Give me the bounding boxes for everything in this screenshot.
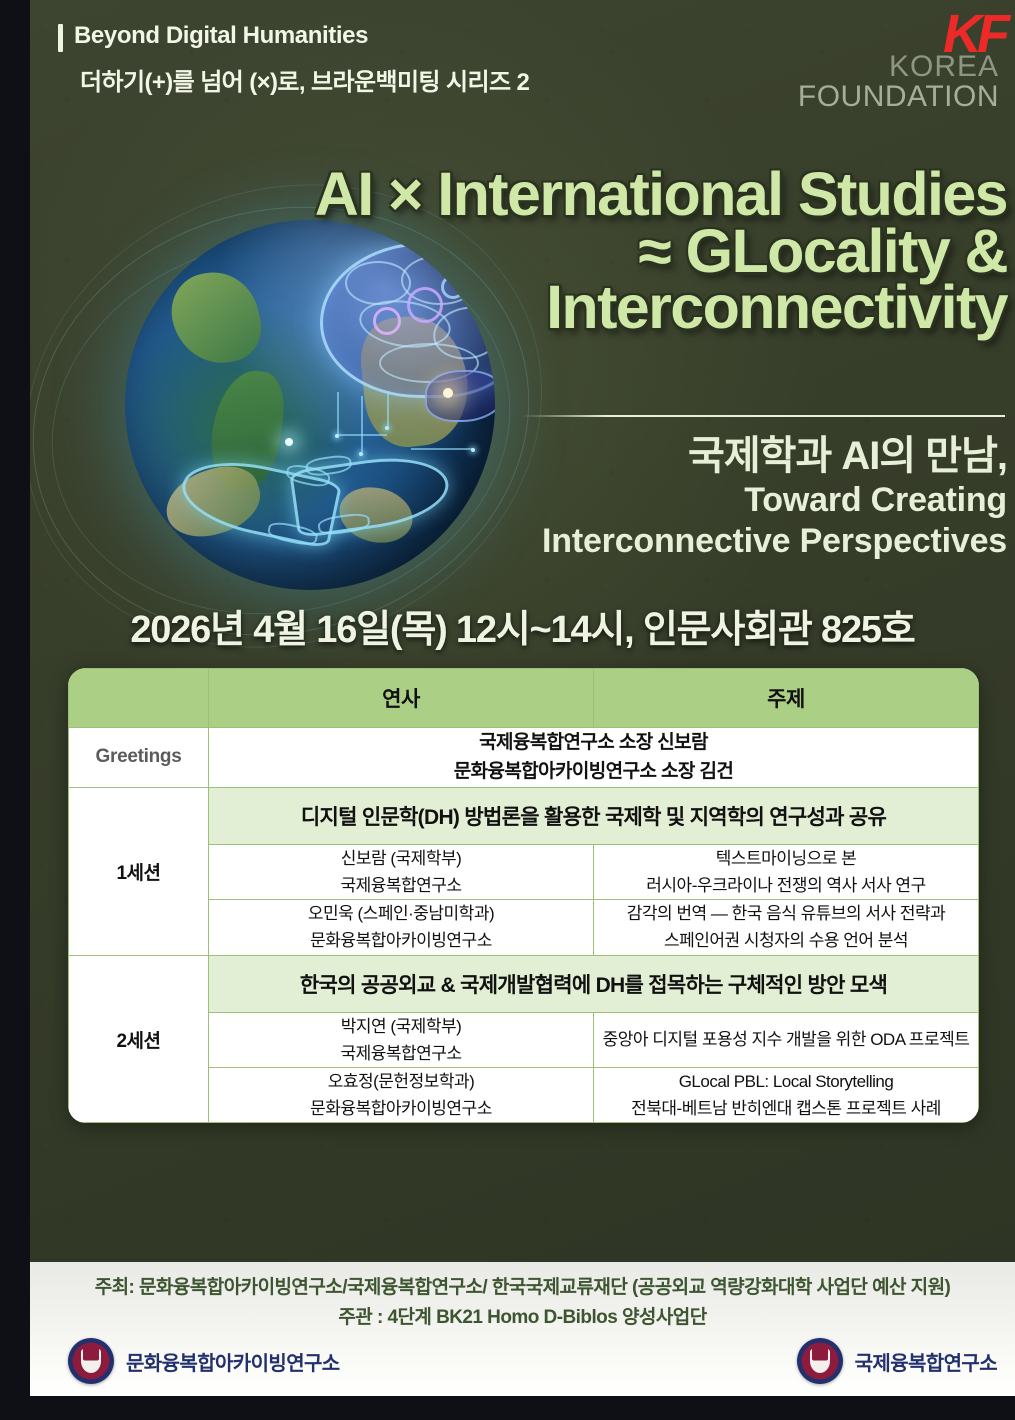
topic-line1: GLocal PBL: Local Storytelling [594,1068,978,1095]
greetings-content-cell: 국제융복합연구소 소장 신보람 문화융복합아카이빙연구소 소장 김건 [209,728,979,788]
page-title: AI × International Studies ≈ GLocality &… [62,166,1007,336]
title-line-3: Interconnectivity [62,279,1007,336]
poster-frame: Beyond Digital Humanities 더하기(+)를 넘어 (×)… [0,0,1015,1420]
col-header-blank [69,669,209,728]
session2-label: 2세션 [116,1031,160,1052]
table-header-row: 연사 주제 [69,669,979,728]
topic-cell: 중앙아 디지털 포용성 지수 개발을 위한 ODA 프로젝트 [594,1012,979,1067]
org-logo-left: 문화융복합아카이빙연구소 [68,1338,340,1384]
topic-line1: 중앙아 디지털 포용성 지수 개발을 위한 ODA 프로젝트 [594,1026,978,1053]
topic-line2: 전북대-베트남 반히엔대 캡스톤 프로젝트 사례 [594,1095,978,1122]
kf-logo-line1: KOREA [889,50,999,84]
session2-heading: 한국의 공공외교 & 국제개발협력에 DH를 접목하는 구체적인 방안 모색 [209,955,979,1012]
title-line-2: ≈ GLocality & [62,223,1007,280]
table-row-session1-heading: 1세션 디지털 인문학(DH) 방법론을 활용한 국제학 및 지역학의 연구성과… [69,787,979,844]
greetings-line2: 문화융복합아카이빙연구소 소장 김건 [209,757,978,786]
table-row-session2-heading: 2세션 한국의 공공외교 & 국제개발협력에 DH를 접목하는 구체적인 방안 … [69,955,979,1012]
footer-host-line: 주최: 문화융복합아카이빙연구소/국제융복합연구소/ 한국국제교류재단 (공공외… [30,1272,1015,1299]
cerebellum-shape [425,370,495,422]
col-header-topic: 주제 [594,669,979,728]
university-crest-icon [797,1338,843,1384]
topic-line1: 감각의 번역 — 한국 음식 유튜브의 서사 전략과 [594,900,978,927]
poster-canvas: Beyond Digital Humanities 더하기(+)를 넘어 (×)… [30,0,1015,1396]
university-crest-icon [68,1338,114,1384]
subtitle-block: 국제학과 AI의 만남, Toward Creating Interconnec… [307,432,1007,563]
speaker-cell: 오효정(문헌정보학과) 문화융복합아카이빙연구소 [209,1068,594,1123]
title-divider [520,415,1005,417]
org-left-name: 문화융복합아카이빙연구소 [126,1347,340,1376]
speaker-name: 신보람 (국제학부) [209,845,593,872]
topic-line2: 스페인어권 시청자의 수용 언어 분석 [594,927,978,954]
speaker-affiliation: 국제융복합연구소 [209,1040,593,1067]
kf-logo-line2: FOUNDATION [798,80,999,114]
col-header-speaker: 연사 [209,669,594,728]
korea-foundation-logo: KF KOREA FOUNDATION [747,8,1007,108]
series-title-ko: 더하기(+)를 넘어 (×)로, 브라운백미팅 시리즈 2 [80,62,529,97]
org-logo-right: 국제융복합연구소 [797,1338,997,1384]
header-accent-bar [58,24,63,52]
org-right-name: 국제융복합연구소 [855,1347,997,1376]
greetings-line1: 국제융복합연구소 소장 신보람 [209,728,978,757]
light-flare [285,438,293,446]
topic-cell: GLocal PBL: Local Storytelling 전북대-베트남 반… [594,1068,979,1123]
session2-label-cell: 2세션 [69,955,209,1123]
light-flare [443,388,453,398]
title-line-1: AI × International Studies [62,166,1007,223]
speaker-name: 오효정(문헌정보학과) [209,1068,593,1095]
greetings-label-cell: Greetings [69,728,209,788]
table-row-greetings: Greetings 국제융복합연구소 소장 신보람 문화융복합아카이빙연구소 소… [69,728,979,788]
speaker-cell: 신보람 (국제학부) 국제융복합연구소 [209,844,594,899]
speaker-cell: 오민욱 (스페인·중남미학과) 문화융복합아카이빙연구소 [209,900,594,955]
speaker-affiliation: 문화융복합아카이빙연구소 [209,1095,593,1122]
topic-line1: 텍스트마이닝으로 본 [594,845,978,872]
topic-cell: 감각의 번역 — 한국 음식 유튜브의 서사 전략과 스페인어권 시청자의 수용… [594,900,979,955]
topic-cell: 텍스트마이닝으로 본 러시아-우크라이나 전쟁의 역사 서사 연구 [594,844,979,899]
topic-line2: 러시아-우크라이나 전쟁의 역사 서사 연구 [594,872,978,899]
poster-footer: 주최: 문화융복합아카이빙연구소/국제융복합연구소/ 한국국제교류재단 (공공외… [30,1262,1015,1396]
session1-label-cell: 1세션 [69,787,209,955]
schedule-table: 연사 주제 Greetings 국제융복합연구소 소장 신보람 문화융복합아카이… [68,668,979,1123]
speaker-name: 박지연 (국제학부) [209,1013,593,1040]
series-title-en: Beyond Digital Humanities [74,22,368,50]
poster-header: Beyond Digital Humanities 더하기(+)를 넘어 (×)… [30,0,1015,120]
speaker-affiliation: 국제융복합연구소 [209,872,593,899]
speaker-name: 오민욱 (스페인·중남미학과) [209,900,593,927]
speaker-affiliation: 문화융복합아카이빙연구소 [209,927,593,954]
subtitle-en-line1: Toward Creating [307,480,1007,521]
subtitle-ko: 국제학과 AI의 만남, [307,432,1007,480]
session1-label: 1세션 [116,863,160,884]
event-datetime-venue: 2026년 4월 16일(목) 12시~14시, 인문사회관 825호 [30,598,1015,653]
greetings-label: Greetings [69,746,208,768]
session1-heading: 디지털 인문학(DH) 방법론을 활용한 국제학 및 지역학의 연구성과 공유 [209,787,979,844]
speaker-cell: 박지연 (국제학부) 국제융복합연구소 [209,1012,594,1067]
footer-organizer-line: 주관 : 4단계 BK21 Homo D-Biblos 양성사업단 [30,1302,1015,1329]
circuit-node [385,426,389,430]
subtitle-en-line2: Interconnective Perspectives [307,521,1007,562]
circuit-trace [387,392,389,426]
circuit-trace [337,392,339,434]
